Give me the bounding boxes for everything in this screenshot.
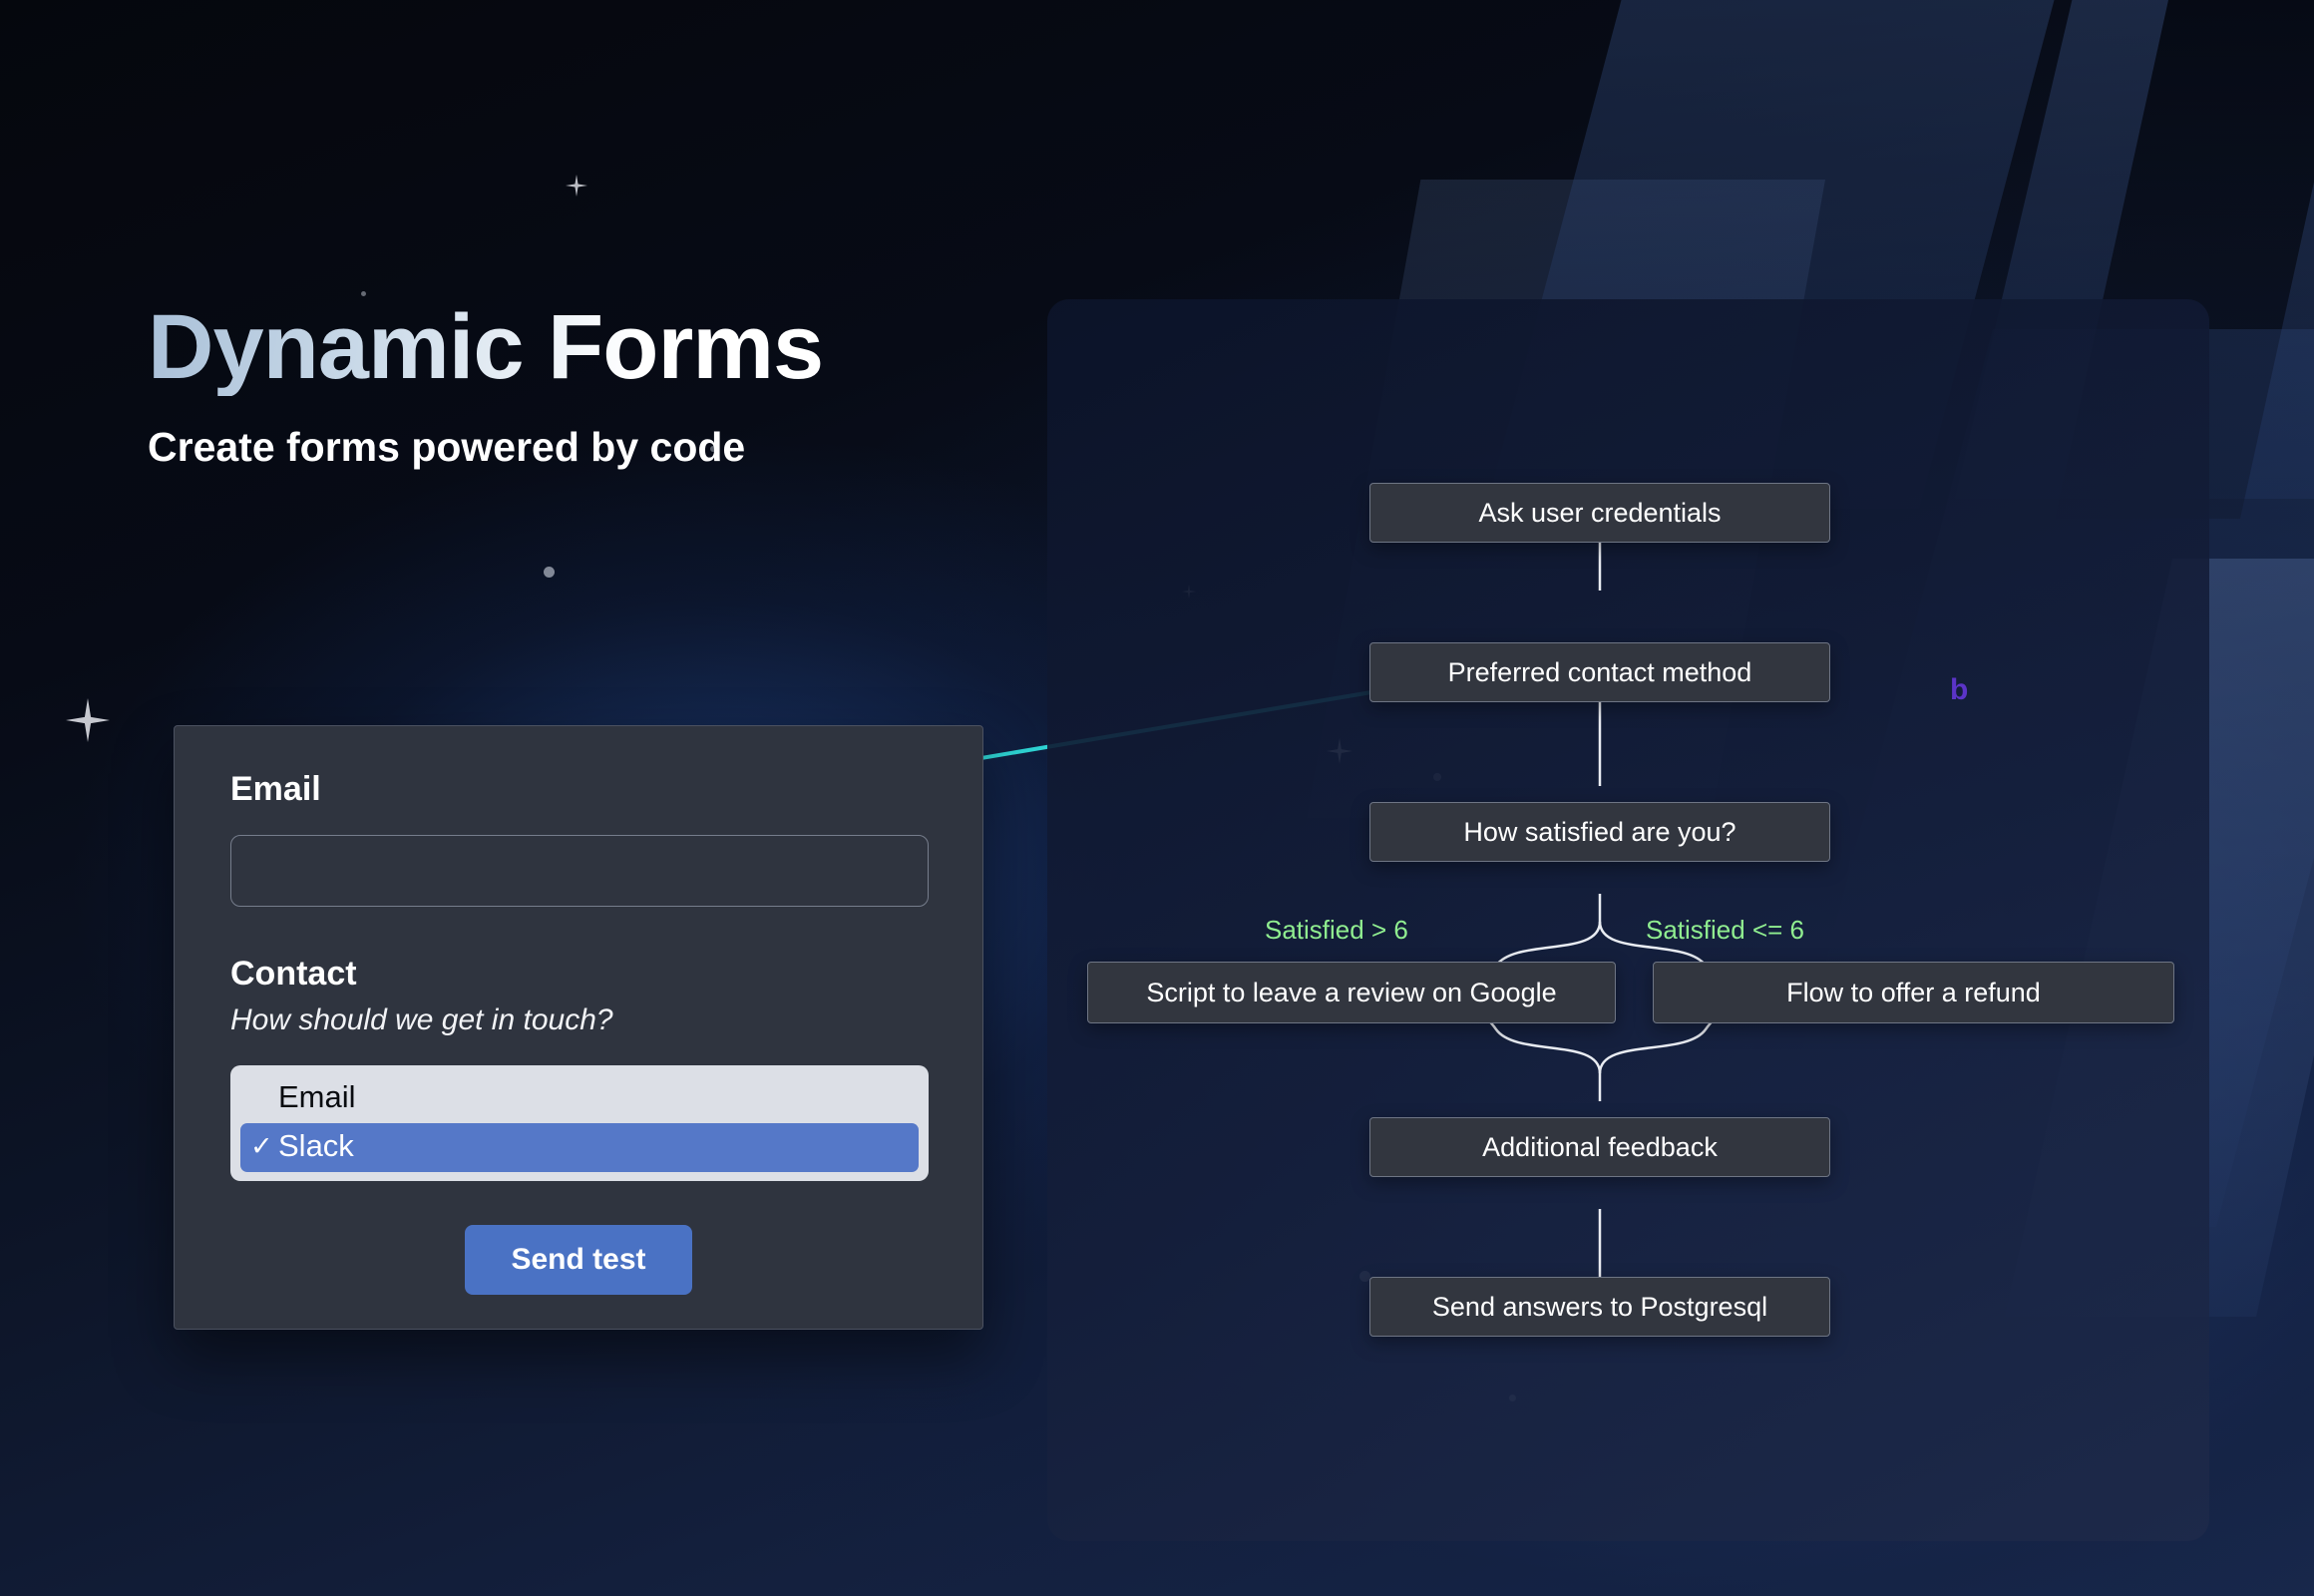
page-subtitle: Create forms powered by code (148, 424, 823, 471)
flow-node-label: Flow to offer a refund (1786, 978, 2041, 1008)
select-option-label: Email (278, 1079, 356, 1114)
select-option-email[interactable]: Email (240, 1074, 919, 1123)
email-input[interactable] (230, 835, 929, 907)
flow-node-send-answers-postgresql[interactable]: Send answers to Postgresql (1369, 1277, 1830, 1337)
flow-edge-label-satisfied-gt-6: Satisfied > 6 (1265, 915, 1408, 946)
select-option-slack[interactable]: ✓ Slack (240, 1123, 919, 1172)
flow-node-additional-feedback[interactable]: Additional feedback (1369, 1117, 1830, 1177)
page-title: Dynamic Forms (148, 299, 823, 396)
sparkle-icon (566, 175, 587, 197)
flow-node-how-satisfied[interactable]: How satisfied are you? (1369, 802, 1830, 862)
contact-field-label: Contact (230, 955, 927, 994)
email-field-label: Email (230, 770, 927, 809)
flow-node-label: Script to leave a review on Google (1146, 978, 1556, 1008)
flow-edge-label-satisfied-lte-6: Satisfied <= 6 (1646, 915, 1804, 946)
flow-node-flow-offer-refund[interactable]: Flow to offer a refund (1653, 962, 2174, 1023)
sparkle-icon (66, 698, 110, 742)
flow-node-label: Additional feedback (1482, 1132, 1718, 1163)
form-preview-card: Email Contact How should we get in touch… (174, 725, 983, 1330)
flow-node-label: Send answers to Postgresql (1432, 1292, 1767, 1323)
dust-dot (544, 567, 555, 578)
flow-node-script-review-google[interactable]: Script to leave a review on Google (1087, 962, 1616, 1023)
hero-block: Dynamic Forms Create forms powered by co… (148, 299, 823, 471)
stray-letter-artifact: b (1950, 673, 1968, 707)
select-option-label: Slack (278, 1128, 354, 1163)
contact-help-text: How should we get in touch? (230, 1003, 927, 1037)
flow-diagram-panel: Ask user credentials Preferred contact m… (1047, 299, 2209, 1541)
app-canvas: Dynamic Forms Create forms powered by co… (0, 0, 2314, 1596)
send-test-button[interactable]: Send test (465, 1225, 691, 1295)
checkmark-icon: ✓ (250, 1130, 273, 1166)
flow-node-label: Preferred contact method (1448, 657, 1752, 688)
flow-node-preferred-contact-method[interactable]: Preferred contact method (1369, 642, 1830, 702)
flow-node-label: How satisfied are you? (1463, 817, 1735, 848)
contact-method-select[interactable]: Email ✓ Slack (230, 1065, 929, 1181)
flow-node-ask-user-credentials[interactable]: Ask user credentials (1369, 483, 1830, 543)
flow-node-label: Ask user credentials (1478, 498, 1721, 529)
